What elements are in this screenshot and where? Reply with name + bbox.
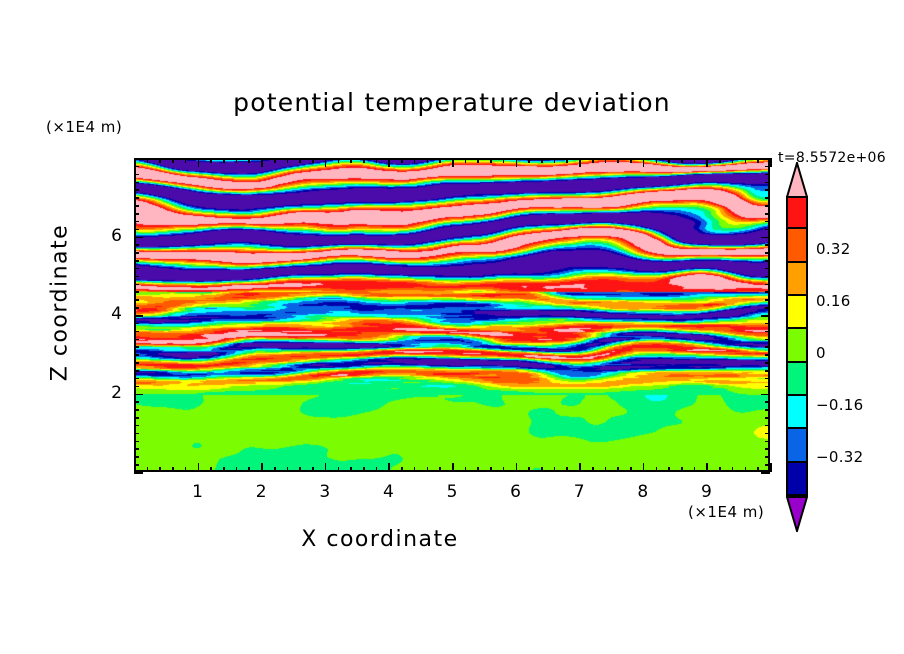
tick-mark bbox=[134, 401, 139, 403]
tick-mark bbox=[350, 158, 352, 163]
tick-mark bbox=[134, 472, 143, 474]
tick-mark bbox=[694, 158, 696, 163]
tick-mark bbox=[765, 213, 770, 215]
colorbar-tick-label: −0.16 bbox=[816, 396, 863, 414]
tick-mark bbox=[134, 197, 139, 199]
tick-mark bbox=[198, 463, 200, 472]
tick-mark bbox=[765, 307, 770, 309]
tick-mark bbox=[134, 213, 139, 215]
tick-mark bbox=[134, 433, 139, 435]
tick-mark bbox=[694, 467, 696, 472]
tick-mark bbox=[134, 409, 139, 411]
tick-mark bbox=[134, 268, 139, 270]
tick-mark bbox=[414, 158, 416, 163]
tick-mark bbox=[388, 463, 390, 472]
tick-mark bbox=[477, 158, 479, 163]
tick-mark bbox=[172, 467, 174, 472]
tick-mark bbox=[338, 467, 340, 472]
tick-mark bbox=[765, 433, 770, 435]
tick-mark bbox=[528, 158, 530, 163]
tick-mark bbox=[299, 467, 301, 472]
tick-mark bbox=[236, 158, 238, 163]
tick-mark bbox=[770, 158, 772, 167]
tick-mark bbox=[147, 467, 149, 472]
tick-mark bbox=[134, 378, 139, 380]
tick-mark bbox=[579, 463, 581, 472]
tick-mark bbox=[765, 323, 770, 325]
colorbar-cap-top bbox=[786, 162, 808, 198]
tick-mark bbox=[643, 463, 645, 472]
tick-mark bbox=[134, 315, 143, 317]
contour-field bbox=[136, 160, 768, 470]
tick-mark bbox=[134, 346, 139, 348]
tick-mark bbox=[765, 244, 770, 246]
tick-mark bbox=[765, 174, 770, 176]
tick-mark bbox=[765, 276, 770, 278]
tick-mark bbox=[605, 467, 607, 472]
tick-mark bbox=[198, 158, 200, 167]
tick-mark bbox=[765, 401, 770, 403]
tick-mark bbox=[656, 158, 658, 163]
tick-mark bbox=[350, 467, 352, 472]
tick-mark bbox=[765, 354, 770, 356]
tick-mark bbox=[134, 354, 139, 356]
tick-mark bbox=[761, 158, 770, 160]
tick-mark bbox=[719, 158, 721, 163]
tick-mark bbox=[388, 158, 390, 167]
tick-mark bbox=[223, 158, 225, 163]
tick-mark bbox=[134, 182, 139, 184]
tick-mark bbox=[761, 394, 770, 396]
tick-mark bbox=[630, 467, 632, 472]
tick-mark bbox=[134, 291, 139, 293]
tick-mark bbox=[566, 158, 568, 163]
tick-mark bbox=[465, 158, 467, 163]
tick-mark bbox=[732, 158, 734, 163]
tick-mark bbox=[134, 260, 139, 262]
tick-mark bbox=[732, 467, 734, 472]
tick-mark bbox=[134, 166, 139, 168]
colorbar-band bbox=[786, 196, 808, 229]
colorbar-band bbox=[786, 363, 808, 396]
tick-mark bbox=[765, 182, 770, 184]
tick-mark bbox=[605, 158, 607, 163]
tick-mark bbox=[745, 467, 747, 472]
tick-mark bbox=[706, 158, 708, 167]
tick-mark bbox=[261, 463, 263, 472]
tick-mark bbox=[427, 158, 429, 163]
tick-mark bbox=[363, 158, 365, 163]
x-tick-label: 9 bbox=[691, 482, 721, 502]
tick-mark bbox=[134, 174, 139, 176]
tick-mark bbox=[134, 441, 139, 443]
tick-mark bbox=[134, 370, 139, 372]
tick-mark bbox=[439, 158, 441, 163]
tick-mark bbox=[668, 158, 670, 163]
colorbar-band bbox=[786, 296, 808, 329]
tick-mark bbox=[706, 463, 708, 472]
tick-mark bbox=[401, 158, 403, 163]
x-tick-label: 5 bbox=[437, 482, 467, 502]
tick-mark bbox=[503, 467, 505, 472]
y-tick-label: 6 bbox=[92, 226, 122, 246]
tick-mark bbox=[765, 229, 770, 231]
tick-mark bbox=[325, 463, 327, 472]
tick-mark bbox=[248, 158, 250, 163]
tick-mark bbox=[761, 472, 770, 474]
x-tick-label: 8 bbox=[628, 482, 658, 502]
tick-mark bbox=[528, 467, 530, 472]
tick-mark bbox=[134, 244, 139, 246]
x-tick-label: 4 bbox=[373, 482, 403, 502]
tick-mark bbox=[765, 425, 770, 427]
x-tick-label: 6 bbox=[501, 482, 531, 502]
tick-mark bbox=[770, 463, 772, 472]
tick-mark bbox=[338, 158, 340, 163]
tick-mark bbox=[134, 237, 143, 239]
tick-mark bbox=[554, 467, 556, 472]
tick-mark bbox=[490, 158, 492, 163]
x-tick-label: 3 bbox=[310, 482, 340, 502]
x-axis-title: X coordinate bbox=[0, 527, 760, 552]
tick-mark bbox=[681, 467, 683, 472]
tick-mark bbox=[656, 467, 658, 472]
tick-mark bbox=[134, 299, 139, 301]
colorbar bbox=[786, 196, 808, 496]
tick-mark bbox=[765, 260, 770, 262]
tick-mark bbox=[681, 158, 683, 163]
tick-mark bbox=[261, 158, 263, 167]
tick-mark bbox=[745, 158, 747, 163]
tick-mark bbox=[761, 315, 770, 317]
tick-mark bbox=[134, 158, 143, 160]
tick-mark bbox=[134, 362, 139, 364]
colorbar-tick-label: 0.32 bbox=[816, 240, 851, 258]
tick-mark bbox=[134, 417, 139, 419]
tick-mark bbox=[134, 464, 139, 466]
tick-mark bbox=[541, 158, 543, 163]
tick-mark bbox=[765, 417, 770, 419]
tick-mark bbox=[134, 456, 139, 458]
x-axis-unit-label: (×1E4 m) bbox=[688, 503, 764, 521]
tick-mark bbox=[592, 158, 594, 163]
tick-mark bbox=[765, 166, 770, 168]
colorbar-band bbox=[786, 263, 808, 296]
tick-mark bbox=[765, 331, 770, 333]
tick-mark bbox=[765, 409, 770, 411]
tick-mark bbox=[765, 378, 770, 380]
tick-mark bbox=[643, 158, 645, 167]
tick-mark bbox=[185, 158, 187, 163]
tick-mark bbox=[376, 158, 378, 163]
colorbar-band bbox=[786, 429, 808, 462]
tick-mark bbox=[172, 158, 174, 163]
colorbar-band bbox=[786, 463, 808, 496]
colorbar-band bbox=[786, 229, 808, 262]
tick-mark bbox=[765, 339, 770, 341]
tick-mark bbox=[566, 467, 568, 472]
tick-mark bbox=[236, 467, 238, 472]
tick-mark bbox=[287, 467, 289, 472]
y-tick-label: 4 bbox=[92, 304, 122, 324]
tick-mark bbox=[765, 252, 770, 254]
tick-mark bbox=[765, 362, 770, 364]
tick-mark bbox=[579, 158, 581, 167]
tick-mark bbox=[134, 394, 143, 396]
tick-mark bbox=[414, 467, 416, 472]
tick-mark bbox=[765, 197, 770, 199]
tick-mark bbox=[765, 284, 770, 286]
colorbar-band bbox=[786, 329, 808, 362]
tick-mark bbox=[134, 221, 139, 223]
tick-mark bbox=[299, 158, 301, 163]
tick-mark bbox=[134, 189, 139, 191]
y-axis-title: Z coordinate bbox=[48, 203, 73, 403]
tick-mark bbox=[274, 467, 276, 472]
tick-mark bbox=[427, 467, 429, 472]
colorbar-band bbox=[786, 396, 808, 429]
tick-mark bbox=[134, 339, 139, 341]
tick-mark bbox=[516, 158, 518, 167]
tick-mark bbox=[757, 467, 759, 472]
tick-mark bbox=[439, 467, 441, 472]
tick-mark bbox=[312, 467, 314, 472]
tick-mark bbox=[134, 205, 139, 207]
tick-mark bbox=[617, 158, 619, 163]
tick-mark bbox=[134, 307, 139, 309]
tick-mark bbox=[719, 467, 721, 472]
tick-mark bbox=[765, 456, 770, 458]
tick-mark bbox=[541, 467, 543, 472]
tick-mark bbox=[765, 299, 770, 301]
y-tick-label: 2 bbox=[92, 383, 122, 403]
tick-mark bbox=[223, 467, 225, 472]
tick-mark bbox=[503, 158, 505, 163]
tick-mark bbox=[134, 252, 139, 254]
tick-mark bbox=[765, 441, 770, 443]
tick-mark bbox=[134, 331, 139, 333]
tick-mark bbox=[516, 463, 518, 472]
tick-mark bbox=[765, 370, 770, 372]
tick-mark bbox=[668, 467, 670, 472]
tick-mark bbox=[765, 386, 770, 388]
tick-mark bbox=[765, 268, 770, 270]
tick-mark bbox=[134, 448, 139, 450]
colorbar-cap-bottom bbox=[786, 496, 808, 532]
tick-mark bbox=[134, 276, 139, 278]
tick-mark bbox=[134, 229, 139, 231]
figure-canvas: potential temperature deviation (×1E4 m)… bbox=[0, 0, 904, 654]
tick-mark bbox=[761, 237, 770, 239]
tick-mark bbox=[452, 463, 454, 472]
tick-mark bbox=[765, 205, 770, 207]
x-tick-label: 2 bbox=[246, 482, 276, 502]
tick-mark bbox=[159, 467, 161, 472]
tick-mark bbox=[452, 158, 454, 167]
tick-mark bbox=[465, 467, 467, 472]
tick-mark bbox=[490, 467, 492, 472]
x-tick-label: 7 bbox=[564, 482, 594, 502]
tick-mark bbox=[765, 448, 770, 450]
tick-mark bbox=[210, 158, 212, 163]
tick-mark bbox=[765, 346, 770, 348]
tick-mark bbox=[159, 158, 161, 163]
tick-mark bbox=[363, 467, 365, 472]
tick-mark bbox=[617, 467, 619, 472]
tick-mark bbox=[477, 467, 479, 472]
tick-mark bbox=[325, 158, 327, 167]
tick-mark bbox=[765, 221, 770, 223]
tick-mark bbox=[147, 158, 149, 163]
tick-mark bbox=[554, 158, 556, 163]
tick-mark bbox=[185, 467, 187, 472]
tick-mark bbox=[765, 464, 770, 466]
colorbar-tick-label: −0.32 bbox=[816, 448, 863, 466]
tick-mark bbox=[401, 467, 403, 472]
tick-mark bbox=[134, 323, 139, 325]
tick-mark bbox=[765, 291, 770, 293]
tick-mark bbox=[630, 158, 632, 163]
colorbar-tick-label: 0 bbox=[816, 344, 826, 362]
tick-mark bbox=[592, 467, 594, 472]
x-tick-label: 1 bbox=[183, 482, 213, 502]
tick-mark bbox=[248, 467, 250, 472]
tick-mark bbox=[210, 467, 212, 472]
page-title: potential temperature deviation bbox=[0, 88, 904, 117]
y-axis-unit-label: (×1E4 m) bbox=[46, 118, 122, 136]
contour-plot-area bbox=[134, 158, 770, 472]
tick-mark bbox=[274, 158, 276, 163]
tick-mark bbox=[287, 158, 289, 163]
tick-mark bbox=[134, 386, 139, 388]
tick-mark bbox=[134, 425, 139, 427]
tick-mark bbox=[765, 189, 770, 191]
tick-mark bbox=[312, 158, 314, 163]
tick-mark bbox=[134, 284, 139, 286]
colorbar-tick-label: 0.16 bbox=[816, 292, 851, 310]
tick-mark bbox=[757, 158, 759, 163]
tick-mark bbox=[376, 467, 378, 472]
